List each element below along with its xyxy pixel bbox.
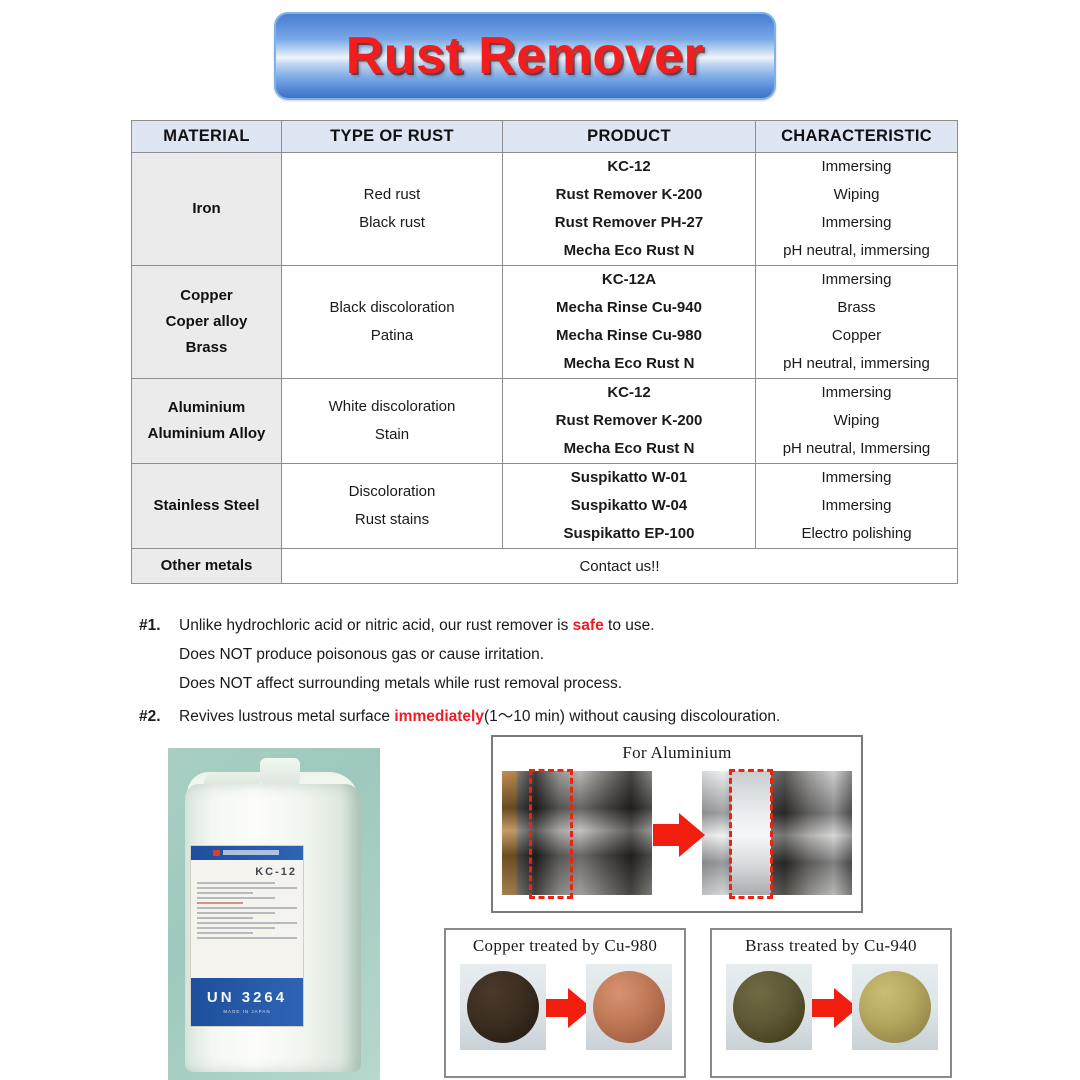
column-header-material: MATERIAL (132, 121, 282, 153)
material-cell-copper: Copper Coper alloy Brass (132, 266, 282, 379)
note-1-lead-after: to use. (604, 617, 655, 634)
aluminium-before-after-row (493, 769, 861, 901)
brass-caption: Brass treated by Cu-940 (712, 930, 950, 956)
type-of-rust-cell-iron: Red rust Black rust (282, 153, 503, 266)
product-cell-copper: KC-12A Mecha Rinse Cu-940 Mecha Rinse Cu… (503, 266, 756, 379)
title-banner: Rust Remover (274, 12, 776, 100)
note-2-lead-after: (1〜10 min) without causing discolouratio… (484, 708, 780, 725)
material-cell-stainless-steel: Stainless Steel (132, 464, 282, 549)
note-2-highlight: immediately (394, 708, 484, 725)
characteristic-cell-iron: Immersing Wiping Immersing pH neutral, i… (756, 153, 958, 266)
note-text-1: Unlike hydrochloric acid or nitric acid,… (179, 617, 969, 635)
column-header-product: PRODUCT (503, 121, 756, 153)
material-cell-other-metals: Other metals (132, 549, 282, 584)
aluminium-caption: For Aluminium (493, 737, 861, 763)
brass-after-coin (859, 971, 931, 1043)
type-of-rust-cell-copper: Black discoloration Patina (282, 266, 503, 379)
copper-before-after-row (446, 964, 684, 1064)
product-cell-aluminium: KC-12 Rust Remover K-200 Mecha Eco Rust … (503, 379, 756, 464)
aluminium-after-photo (702, 771, 852, 895)
aluminium-arrow-icon (653, 813, 705, 857)
product-label: KC-12 UN 3264 MADE IN JAPAN (190, 845, 304, 1027)
note-2-lead-before: Revives lustrous metal surface (179, 708, 394, 725)
type-of-rust-cell-stainless-steel: Discoloration Rust stains (282, 464, 503, 549)
brass-before-photo (726, 964, 812, 1050)
label-un-number: UN 3264 (207, 990, 287, 1005)
label-fine-print (197, 882, 297, 939)
characteristic-cell-stainless-steel: Immersing Immersing Electro polishing (756, 464, 958, 549)
rust-remover-table-wrapper: MATERIAL TYPE OF RUST PRODUCT CHARACTERI… (131, 120, 957, 584)
table-row: Copper Coper alloy Brass Black discolora… (132, 266, 958, 379)
can-cap (260, 758, 300, 784)
table-row: Iron Red rust Black rust KC-12 Rust Remo… (132, 153, 958, 266)
copper-before-coin (467, 971, 539, 1043)
column-header-characteristic: CHARACTERISTIC (756, 121, 958, 153)
product-container-photo: KC-12 UN 3264 MADE IN JAPAN (168, 748, 380, 1080)
label-made-in: MADE IN JAPAN (223, 1009, 270, 1014)
aluminium-demo-panel: For Aluminium (491, 735, 863, 913)
aluminium-after-surface (702, 771, 852, 895)
type-of-rust-cell-aluminium: White discoloration Stain (282, 379, 503, 464)
note-1-subline-1: Does NOT produce poisonous gas or cause … (179, 646, 969, 664)
copper-after-coin (593, 971, 665, 1043)
aluminium-before-photo (502, 771, 652, 895)
product-cell-iron: KC-12 Rust Remover K-200 Rust Remover PH… (503, 153, 756, 266)
product-cell-stainless-steel: Suspikatto W-01 Suspikatto W-04 Suspikat… (503, 464, 756, 549)
label-product-name: KC-12 (197, 866, 297, 878)
aluminium-before-surface (502, 771, 652, 895)
copper-demo-panel: Copper treated by Cu-980 (444, 928, 686, 1078)
note-item-1: #1. Unlike hydrochloric acid or nitric a… (139, 617, 969, 635)
label-header-band (191, 846, 303, 860)
brass-before-after-row (712, 964, 950, 1064)
table-row: Stainless Steel Discoloration Rust stain… (132, 464, 958, 549)
page-title: Rust Remover (346, 26, 705, 86)
note-text-2: Revives lustrous metal surface immediate… (179, 704, 969, 726)
material-cell-aluminium: Aluminium Aluminium Alloy (132, 379, 282, 464)
brass-before-coin (733, 971, 805, 1043)
aluminium-before-marker (529, 769, 573, 899)
table-row-other-metals: Other metals Contact us!! (132, 549, 958, 584)
brass-demo-panel: Brass treated by Cu-940 (710, 928, 952, 1078)
table-header-row: MATERIAL TYPE OF RUST PRODUCT CHARACTERI… (132, 121, 958, 153)
label-footer-band: UN 3264 MADE IN JAPAN (191, 978, 303, 1026)
note-1-highlight: safe (573, 617, 604, 634)
copper-after-photo (586, 964, 672, 1050)
table-row: Aluminium Aluminium Alloy White discolor… (132, 379, 958, 464)
copper-before-photo (460, 964, 546, 1050)
aluminium-after-marker (729, 769, 773, 899)
note-1-subline-2: Does NOT affect surrounding metals while… (179, 675, 969, 693)
note-item-2: #2. Revives lustrous metal surface immed… (139, 704, 969, 726)
material-cell-iron: Iron (132, 153, 282, 266)
note-number-1: #1. (139, 617, 179, 635)
brass-after-photo (852, 964, 938, 1050)
contact-us-cell: Contact us!! (282, 549, 958, 584)
column-header-type-of-rust: TYPE OF RUST (282, 121, 503, 153)
notes-section: #1. Unlike hydrochloric acid or nitric a… (139, 617, 969, 737)
copper-caption: Copper treated by Cu-980 (446, 930, 684, 956)
note-1-lead-before: Unlike hydrochloric acid or nitric acid,… (179, 617, 573, 634)
company-logo-icon (213, 850, 220, 856)
title-banner-background: Rust Remover (274, 12, 776, 100)
characteristic-cell-copper: Immersing Brass Copper pH neutral, immer… (756, 266, 958, 379)
characteristic-cell-aluminium: Immersing Wiping pH neutral, Immersing (756, 379, 958, 464)
note-number-2: #2. (139, 708, 179, 726)
company-name-text (223, 850, 279, 855)
rust-remover-table: MATERIAL TYPE OF RUST PRODUCT CHARACTERI… (131, 120, 958, 584)
